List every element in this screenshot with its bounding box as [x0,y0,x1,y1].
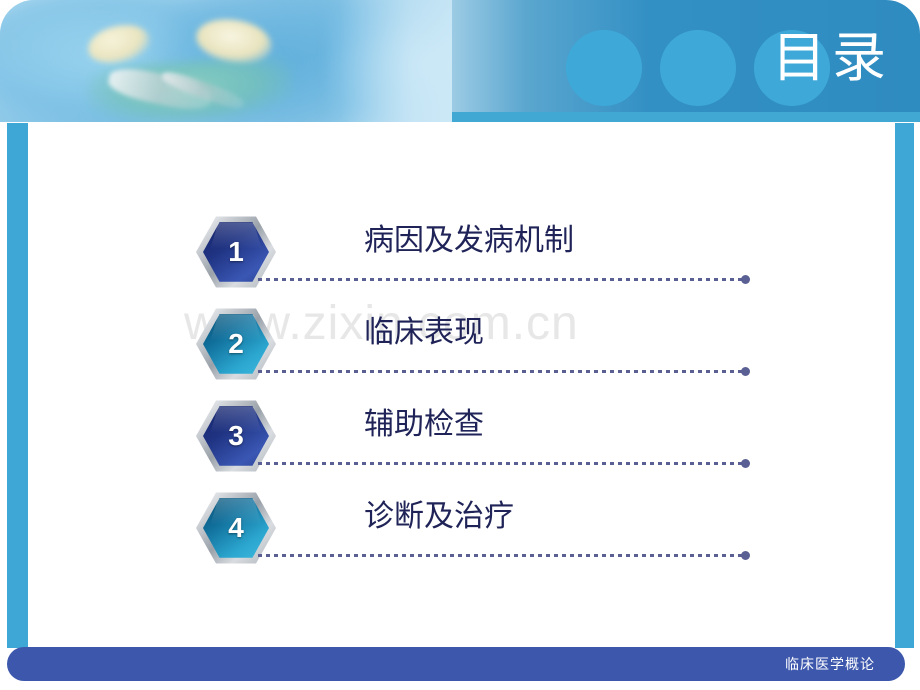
toc-item-label: 诊断及治疗 [364,496,514,538]
toc-item-label: 临床表现 [364,312,484,354]
slide-footer-bar: 临床医学概论 [7,647,905,681]
toc-item-3[interactable]: 3 辅助检查 [196,394,756,486]
toc-list: 1 病因及发病机制 2 临床表现 3 [0,0,920,690]
toc-end-dot-icon [741,275,750,284]
toc-item-2[interactable]: 2 临床表现 [196,302,756,394]
toc-item-4[interactable]: 4 诊断及治疗 [196,486,756,578]
toc-item-1[interactable]: 1 病因及发病机制 [196,210,756,302]
toc-end-dot-icon [741,367,750,376]
toc-end-dot-icon [741,459,750,468]
toc-dotted-connector [258,554,745,557]
toc-dotted-connector [258,278,745,281]
toc-dotted-connector [258,462,745,465]
toc-dotted-connector [258,370,745,373]
toc-end-dot-icon [741,551,750,560]
toc-item-label: 病因及发病机制 [364,220,574,262]
slide-canvas: 目录 www.zixin.com.cn 1 病因及发病机制 2 [0,0,920,690]
toc-item-label: 辅助检查 [364,404,484,446]
footer-label: 临床医学概论 [785,647,875,681]
